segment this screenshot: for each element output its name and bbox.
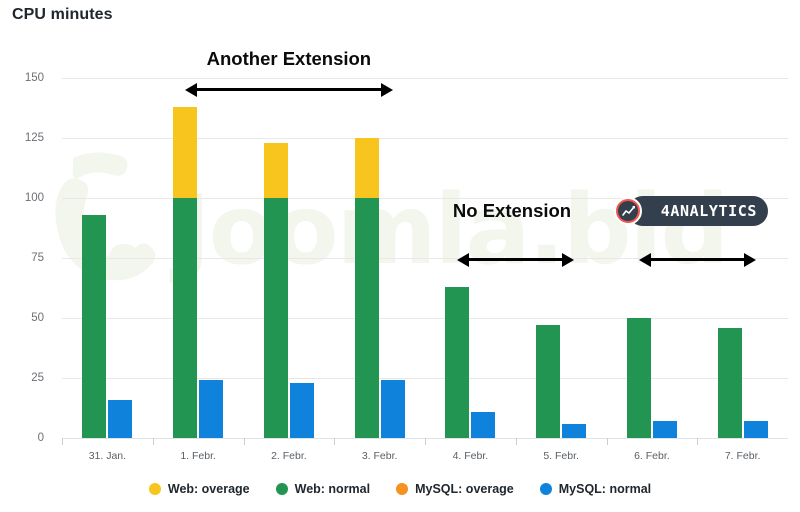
legend-swatch-icon [396, 483, 408, 495]
bar-segment-mysql-normal[interactable] [290, 383, 314, 438]
x-axis-tick [334, 438, 335, 445]
y-axis-tick-label: 0 [0, 432, 44, 444]
bar-web[interactable] [264, 143, 288, 438]
gridline [62, 78, 788, 79]
annotation-arrow-no-extension-a-line [468, 258, 563, 261]
bar-mysql[interactable] [199, 380, 223, 438]
bar-web[interactable] [627, 318, 651, 438]
x-axis-tick [697, 438, 698, 445]
x-axis-tick [425, 438, 426, 445]
bar-segment-web-normal[interactable] [173, 198, 197, 438]
y-axis-tick-label: 75 [0, 252, 44, 264]
annotation-arrow-no-extension-a-arrowhead-left [457, 253, 469, 267]
logo-pill: 4ANALYTICS [628, 196, 768, 226]
bar-mysql[interactable] [744, 421, 768, 438]
x-axis-label: 3. Febr. [362, 450, 398, 462]
bar-mysql[interactable] [290, 383, 314, 438]
chart-root: CPU minutes Joomla.bid 02550751001251503… [0, 0, 800, 512]
x-axis-tick [153, 438, 154, 445]
bar-segment-mysql-normal[interactable] [381, 380, 405, 438]
legend-swatch-icon [149, 483, 161, 495]
bar-mysql[interactable] [108, 400, 132, 438]
bar-web[interactable] [82, 215, 106, 438]
bar-segment-web-normal[interactable] [445, 287, 469, 438]
legend-swatch-icon [540, 483, 552, 495]
annotation-arrow-no-extension-b-arrowhead-left [639, 253, 651, 267]
logo-wordmark: 4ANALYTICS [661, 202, 757, 220]
bar-mysql[interactable] [653, 421, 677, 438]
gridline [62, 318, 788, 319]
bar-segment-web-normal[interactable] [82, 215, 106, 438]
bar-segment-web-normal[interactable] [355, 198, 379, 438]
bar-web[interactable] [718, 328, 742, 438]
bar-mysql[interactable] [562, 424, 586, 438]
bar-segment-mysql-normal[interactable] [744, 421, 768, 438]
legend: Web: overageWeb: normalMySQL: overageMyS… [0, 482, 800, 496]
annotation-label-no-extension: No Extension [453, 200, 571, 222]
legend-item[interactable]: Web: overage [149, 482, 250, 496]
x-axis-label: 31. Jan. [89, 450, 126, 462]
x-axis-label: 2. Febr. [271, 450, 307, 462]
legend-label: MySQL: overage [415, 482, 514, 496]
gridline [62, 378, 788, 379]
x-axis-tick [607, 438, 608, 445]
x-axis-label: 5. Febr. [543, 450, 579, 462]
bar-web[interactable] [445, 287, 469, 438]
y-axis-tick-label: 50 [0, 312, 44, 324]
x-axis-label: 1. Febr. [180, 450, 216, 462]
bar-segment-mysql-normal[interactable] [562, 424, 586, 438]
y-axis-tick-label: 25 [0, 372, 44, 384]
annotation-arrow-another-extension-arrowhead-left [185, 83, 197, 97]
annotation-arrow-another-extension-line [196, 88, 382, 91]
x-axis-tick [244, 438, 245, 445]
annotation-label-another-extension: Another Extension [207, 48, 371, 70]
legend-label: Web: overage [168, 482, 250, 496]
bar-web[interactable] [355, 138, 379, 438]
annotation-arrow-no-extension-a-arrowhead-right [562, 253, 574, 267]
bar-mysql[interactable] [381, 380, 405, 438]
legend-item[interactable]: Web: normal [276, 482, 370, 496]
bar-segment-web-overage[interactable] [173, 107, 197, 198]
annotation-arrow-no-extension-b-line [650, 258, 745, 261]
x-axis-tick [516, 438, 517, 445]
x-axis-label: 6. Febr. [634, 450, 670, 462]
legend-item[interactable]: MySQL: overage [396, 482, 514, 496]
bar-segment-mysql-normal[interactable] [471, 412, 495, 438]
x-axis-label: 7. Febr. [725, 450, 761, 462]
legend-item[interactable]: MySQL: normal [540, 482, 651, 496]
bar-segment-web-normal[interactable] [264, 198, 288, 438]
annotation-arrow-no-extension-b-arrowhead-right [744, 253, 756, 267]
gridline [62, 138, 788, 139]
chart-line-icon [614, 197, 642, 225]
bar-segment-web-normal[interactable] [627, 318, 651, 438]
bar-segment-mysql-normal[interactable] [108, 400, 132, 438]
bar-segment-web-normal[interactable] [718, 328, 742, 438]
y-axis-tick-label: 150 [0, 72, 44, 84]
y-axis-tick-label: 100 [0, 192, 44, 204]
chart-line-glyph [622, 206, 635, 217]
x-axis-tick [62, 438, 63, 445]
page-title: CPU minutes [12, 6, 113, 24]
legend-swatch-icon [276, 483, 288, 495]
bar-web[interactable] [536, 325, 560, 438]
annotation-arrow-another-extension-arrowhead-right [381, 83, 393, 97]
legend-label: MySQL: normal [559, 482, 651, 496]
legend-label: Web: normal [295, 482, 370, 496]
x-axis-label: 4. Febr. [453, 450, 489, 462]
bar-mysql[interactable] [471, 412, 495, 438]
y-axis-tick-label: 125 [0, 132, 44, 144]
bar-segment-web-overage[interactable] [264, 143, 288, 198]
bar-segment-mysql-normal[interactable] [199, 380, 223, 438]
bar-web[interactable] [173, 107, 197, 438]
bar-segment-mysql-normal[interactable] [653, 421, 677, 438]
bar-segment-web-normal[interactable] [536, 325, 560, 438]
bar-segment-web-overage[interactable] [355, 138, 379, 198]
